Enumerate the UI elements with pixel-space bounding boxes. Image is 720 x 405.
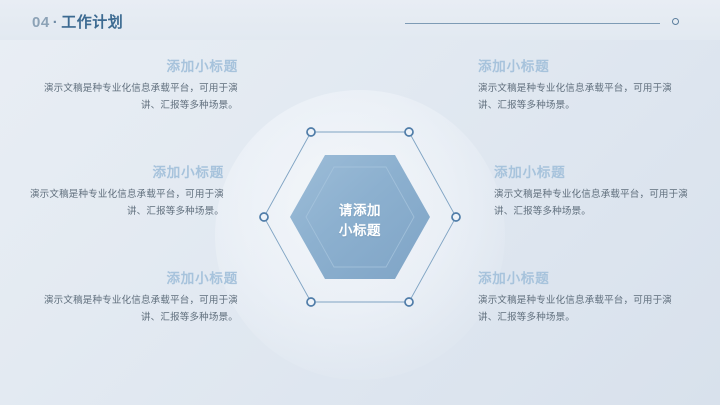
page-title-number: 04 bbox=[32, 14, 50, 31]
text-block-right-1[interactable]: 添加小标题 演示文稿是种专业化信息承载平台，可用于演讲、汇报等多种场景。 bbox=[478, 58, 684, 114]
block-title: 添加小标题 bbox=[494, 164, 700, 182]
hexagon-diagram: 请添加 小标题 bbox=[250, 105, 470, 333]
slide-header: 04·工作计划 bbox=[0, 0, 720, 40]
page-title-label: 工作计划 bbox=[61, 14, 123, 31]
header-divider-line bbox=[405, 23, 660, 24]
hexagon-center-label: 请添加 小标题 bbox=[250, 201, 470, 241]
block-title: 添加小标题 bbox=[18, 164, 224, 182]
hex-node-bottom-right[interactable] bbox=[405, 298, 413, 306]
text-block-left-2[interactable]: 添加小标题 演示文稿是种专业化信息承载平台，可用于演讲、汇报等多种场景。 bbox=[18, 164, 224, 220]
hexagon-center-line-2: 小标题 bbox=[250, 221, 470, 241]
block-body: 演示文稿是种专业化信息承载平台，可用于演讲、汇报等多种场景。 bbox=[32, 292, 238, 326]
block-body: 演示文稿是种专业化信息承载平台，可用于演讲、汇报等多种场景。 bbox=[18, 186, 224, 220]
block-body: 演示文稿是种专业化信息承载平台，可用于演讲、汇报等多种场景。 bbox=[32, 80, 238, 114]
text-block-left-1[interactable]: 添加小标题 演示文稿是种专业化信息承载平台，可用于演讲、汇报等多种场景。 bbox=[32, 58, 238, 114]
header-end-dot-icon bbox=[672, 18, 679, 25]
block-title: 添加小标题 bbox=[478, 270, 684, 288]
block-title: 添加小标题 bbox=[32, 58, 238, 76]
hex-node-top-right[interactable] bbox=[405, 128, 413, 136]
page-title-separator: · bbox=[50, 14, 62, 31]
text-block-left-3[interactable]: 添加小标题 演示文稿是种专业化信息承载平台，可用于演讲、汇报等多种场景。 bbox=[32, 270, 238, 326]
block-body: 演示文稿是种专业化信息承载平台，可用于演讲、汇报等多种场景。 bbox=[478, 80, 684, 114]
hex-node-bottom-left[interactable] bbox=[307, 298, 315, 306]
block-body: 演示文稿是种专业化信息承载平台，可用于演讲、汇报等多种场景。 bbox=[478, 292, 684, 326]
block-title: 添加小标题 bbox=[32, 270, 238, 288]
block-body: 演示文稿是种专业化信息承载平台，可用于演讲、汇报等多种场景。 bbox=[494, 186, 700, 220]
block-title: 添加小标题 bbox=[478, 58, 684, 76]
slide-root: 04·工作计划 bbox=[0, 0, 720, 405]
hex-node-top-left[interactable] bbox=[307, 128, 315, 136]
hexagon-center-line-1: 请添加 bbox=[250, 201, 470, 221]
text-block-right-2[interactable]: 添加小标题 演示文稿是种专业化信息承载平台，可用于演讲、汇报等多种场景。 bbox=[494, 164, 700, 220]
text-block-right-3[interactable]: 添加小标题 演示文稿是种专业化信息承载平台，可用于演讲、汇报等多种场景。 bbox=[478, 270, 684, 326]
page-title: 04·工作计划 bbox=[32, 11, 123, 32]
